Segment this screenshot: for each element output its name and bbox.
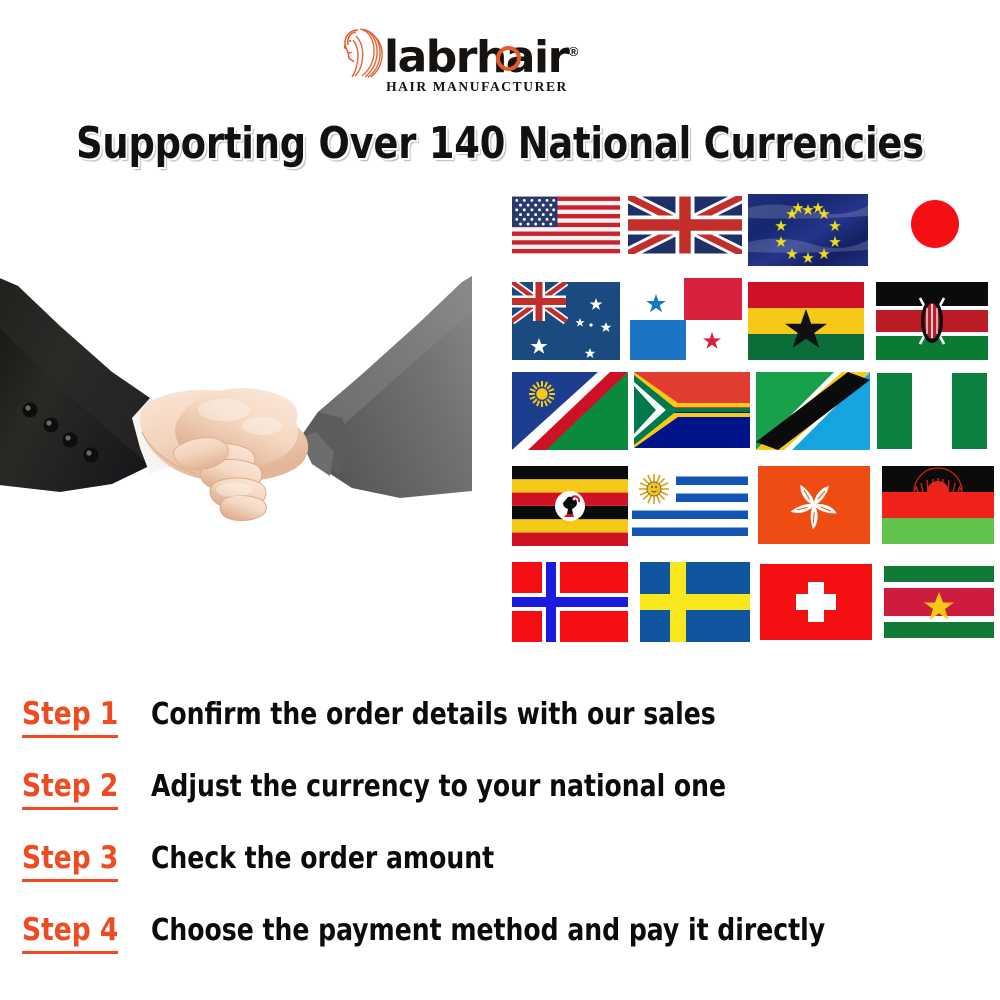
flag-grid <box>500 190 1000 652</box>
flag-eu <box>748 194 868 266</box>
logo-o-ring-wrap: rhair <box>456 36 568 80</box>
flag-no <box>512 562 628 642</box>
woman-hair-profile-icon <box>336 26 386 78</box>
logo-word-part1: lab <box>384 32 456 83</box>
flag-ug <box>512 466 628 546</box>
step-2-text: Adjust the currency to your national one <box>151 769 726 804</box>
brand-logo: labrhair® HAIR MANUFACTURER <box>336 26 596 98</box>
flag-gh <box>748 282 864 360</box>
flag-hk <box>758 466 870 544</box>
step-4-text: Choose the payment method and pay it dir… <box>151 913 825 948</box>
flag-za <box>634 372 750 448</box>
logo-wordmark: labrhair® <box>384 30 577 80</box>
flag-au <box>512 282 620 360</box>
logo-wordmark-row: labrhair® <box>336 26 596 78</box>
flag-jp <box>882 196 988 254</box>
logo-o-ring-icon <box>496 46 521 71</box>
step-3-text: Check the order amount <box>151 841 494 876</box>
flag-pa <box>624 272 744 364</box>
step-4-label: Step 4 <box>22 912 118 952</box>
step-row-3: Step 3 Check the order amount <box>22 840 520 880</box>
flag-gb <box>628 196 742 254</box>
registered-trademark-mark: ® <box>569 44 577 59</box>
handshake-photo <box>0 252 472 534</box>
promo-banner: labrhair® HAIR MANUFACTURER Supporting O… <box>0 0 1000 1000</box>
step-row-4: Step 4 Choose the payment method and pay… <box>22 912 876 952</box>
step-1-label: Step 1 <box>22 696 118 736</box>
step-3-label: Step 3 <box>22 840 118 880</box>
flag-tz <box>756 372 870 450</box>
flag-ng <box>876 372 988 450</box>
step-row-2: Step 2 Adjust the currency to your natio… <box>22 768 770 808</box>
step-2-label: Step 2 <box>22 768 118 808</box>
step-row-1: Step 1 Confirm the order details with ou… <box>22 696 759 736</box>
flag-sr <box>884 564 994 640</box>
flag-us <box>512 196 620 254</box>
flag-se <box>640 562 750 642</box>
page-title: Supporting Over 140 National Currencies <box>35 118 965 169</box>
flag-ch <box>760 564 872 640</box>
flag-na <box>512 372 628 450</box>
step-1-text: Confirm the order details with our sales <box>151 697 716 732</box>
flag-uy <box>632 468 748 544</box>
flag-ke <box>876 282 988 360</box>
flag-mw <box>882 466 994 544</box>
